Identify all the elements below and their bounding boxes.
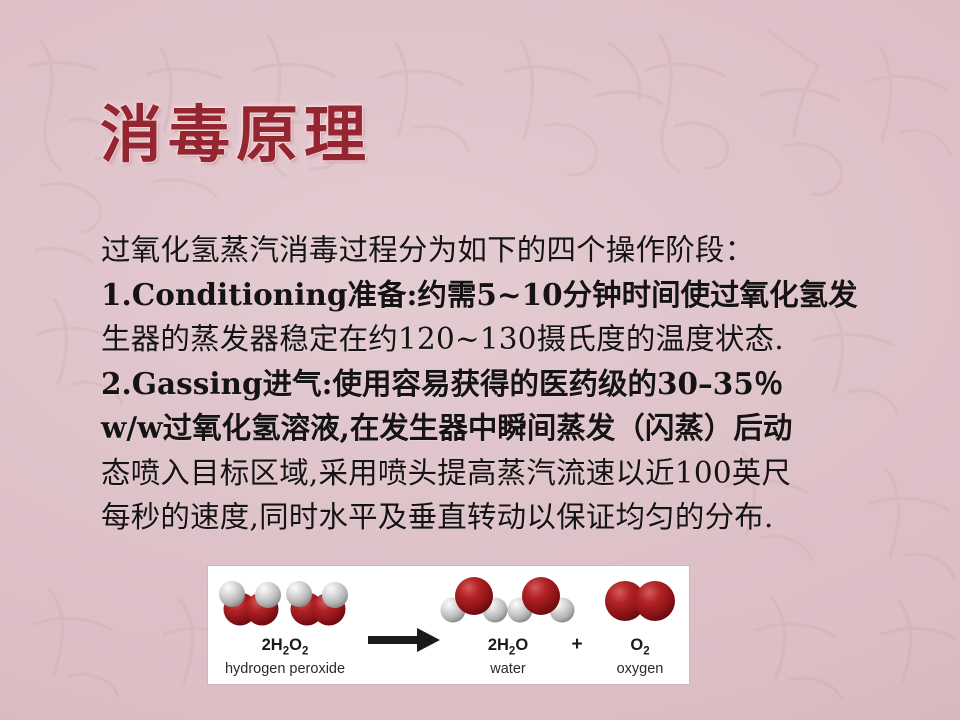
- label-name-hydrogen-peroxide: hydrogen peroxide: [225, 661, 345, 677]
- chemistry-reaction-figure: 2H2O2 hydrogen peroxide 2H2O water + O2 …: [208, 566, 689, 684]
- title-block: 消毒原理: [100, 96, 700, 180]
- label-plus-sign: +: [571, 634, 582, 655]
- slide-canvas: 消毒原理 过氧化氢蒸汽消毒过程分为如下的四个操作阶段： 1.Conditioni…: [0, 0, 960, 720]
- body-line-5: w/w过氧化氢溶液,在发生器中瞬间蒸发（闪蒸）后动: [101, 406, 931, 451]
- page-title: 消毒原理: [100, 96, 700, 174]
- body-line-6: 态喷入目标区域,采用喷头提高蒸汽流速以近100英尺: [101, 451, 931, 496]
- body-line-3: 生器的蒸发器稳定在约120~130摄氏度的温度状态.: [101, 317, 931, 362]
- label-name-oxygen: oxygen: [617, 661, 664, 677]
- label-name-water: water: [489, 661, 526, 677]
- body-line-4: 2.Gassing进气:使用容易获得的医药级的30–35％: [101, 362, 931, 407]
- body-line-1: 过氧化氢蒸汽消毒过程分为如下的四个操作阶段：: [101, 228, 931, 273]
- body-line-7: 每秒的速度,同时水平及垂直转动以保证均匀的分布.: [101, 495, 931, 540]
- body-text-block: 过氧化氢蒸汽消毒过程分为如下的四个操作阶段： 1.Conditioning准备:…: [101, 228, 931, 540]
- body-line-2: 1.Conditioning准备:约需5~10分钟时间使过氧化氢发: [101, 273, 931, 318]
